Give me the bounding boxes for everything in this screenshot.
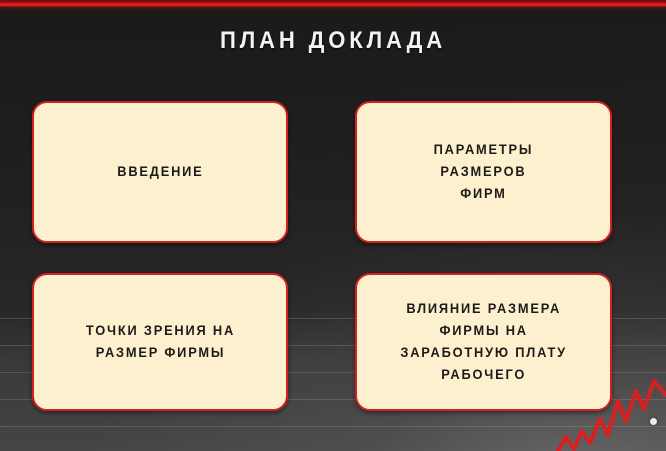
top-accent-rule: [0, 2, 666, 7]
plan-card-label: ТОЧКИ ЗРЕНИЯ НА РАЗМЕР ФИРМЫ: [76, 320, 244, 364]
plan-card-grid: ВВЕДЕНИЕ ПАРАМЕТРЫ РАЗМЕРОВ ФИРМ ТОЧКИ З…: [32, 101, 612, 411]
plan-card-label: ПАРАМЕТРЫ РАЗМЕРОВ ФИРМ: [424, 139, 543, 205]
plan-card-label: ВВЕДЕНИЕ: [107, 161, 212, 183]
plan-card-viewpoints-on-firm-size[interactable]: ТОЧКИ ЗРЕНИЯ НА РАЗМЕР ФИРМЫ: [32, 273, 288, 411]
slide-canvas: ПЛАН ДОКЛАДА ВВЕДЕНИЕ ПАРАМЕТРЫ РАЗМЕРОВ…: [0, 0, 666, 451]
plan-card-firm-size-parameters[interactable]: ПАРАМЕТРЫ РАЗМЕРОВ ФИРМ: [355, 101, 612, 243]
plan-card-firm-size-wage-impact[interactable]: ВЛИЯНИЕ РАЗМЕРА ФИРМЫ НА ЗАРАБОТНУЮ ПЛАТ…: [355, 273, 612, 411]
chart-line-marker: [650, 418, 657, 425]
page-title: ПЛАН ДОКЛАДА: [27, 27, 640, 55]
plan-card-introduction[interactable]: ВВЕДЕНИЕ: [32, 101, 288, 243]
plan-card-label: ВЛИЯНИЕ РАЗМЕРА ФИРМЫ НА ЗАРАБОТНУЮ ПЛАТ…: [391, 298, 577, 385]
gridline: [0, 426, 666, 427]
